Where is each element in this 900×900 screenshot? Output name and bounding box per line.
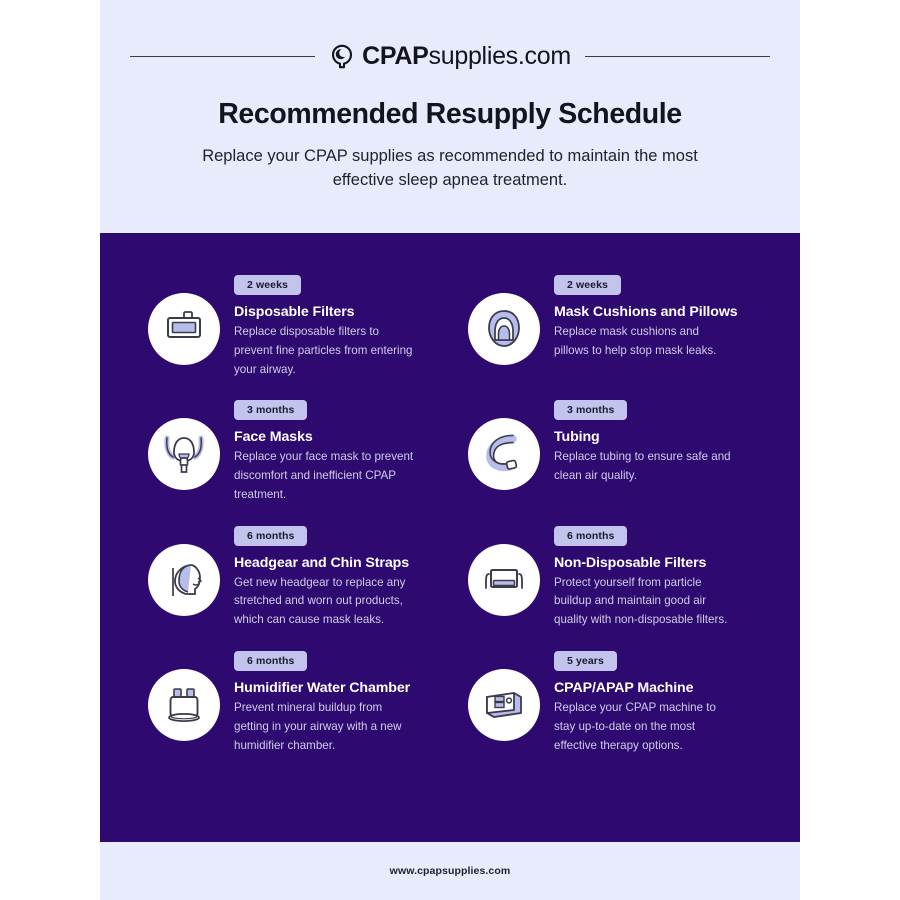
brand-name-regular: supplies.com xyxy=(429,42,571,70)
schedule-item-text: 3 months Tubing Replace tubing to ensure… xyxy=(554,398,778,486)
schedule-item-text: 5 years CPAP/APAP Machine Replace your C… xyxy=(554,649,778,755)
schedule-item[interactable]: 3 months Tubing Replace tubing to ensure… xyxy=(468,398,778,504)
schedule-item-text: 3 months Face Masks Replace your face ma… xyxy=(234,398,458,504)
schedule-item[interactable]: 6 months Humidifier Water Chamber Preven… xyxy=(148,649,458,755)
schedule-item[interactable]: 5 years CPAP/APAP Machine Replace your C… xyxy=(468,649,778,755)
cpap-machine-icon xyxy=(468,669,540,741)
status-badge: 3 months xyxy=(234,400,307,420)
schedule-item[interactable]: 3 months Face Masks Replace your face ma… xyxy=(148,398,458,504)
item-description: Replace tubing to ensure safe and clean … xyxy=(554,448,734,486)
item-description: Replace your face mask to prevent discom… xyxy=(234,448,414,504)
moon-in-droplet-icon xyxy=(329,44,355,70)
item-description: Replace your CPAP machine to stay up-to-… xyxy=(554,699,734,755)
tubing-icon xyxy=(468,418,540,490)
schedule-grid: 2 weeks Disposable Filters Replace dispo… xyxy=(148,273,778,755)
item-title: CPAP/APAP Machine xyxy=(554,680,778,696)
item-description: Protect yourself from particle buildup a… xyxy=(554,574,734,630)
header-section: CPAPsupplies.com Recommended Resupply Sc… xyxy=(100,0,800,233)
item-title: Tubing xyxy=(554,429,778,445)
footer-website-link[interactable]: www.cpapsupplies.com xyxy=(390,865,511,877)
status-badge: 6 months xyxy=(234,526,307,546)
headgear-icon xyxy=(148,544,220,616)
item-title: Face Masks xyxy=(234,429,458,445)
schedule-item[interactable]: 2 weeks Mask Cushions and Pillows Replac… xyxy=(468,273,778,379)
item-title: Non-Disposable Filters xyxy=(554,555,778,571)
brand-name-bold: CPAP xyxy=(362,42,428,70)
status-badge: 6 months xyxy=(554,526,627,546)
brand-row: CPAPsupplies.com xyxy=(130,42,770,71)
status-badge: 2 weeks xyxy=(554,275,621,295)
face-mask-icon xyxy=(148,418,220,490)
footer-section: www.cpapsupplies.com xyxy=(100,842,800,900)
schedule-item-text: 2 weeks Disposable Filters Replace dispo… xyxy=(234,273,458,379)
page-title: Recommended Resupply Schedule xyxy=(218,98,682,131)
schedule-item-text: 6 months Headgear and Chin Straps Get ne… xyxy=(234,524,458,630)
schedule-item[interactable]: 6 months Non-Disposable Filters Protect … xyxy=(468,524,778,630)
schedule-item[interactable]: 2 weeks Disposable Filters Replace dispo… xyxy=(148,273,458,379)
non-disposable-filter-icon xyxy=(468,544,540,616)
item-description: Replace disposable filters to prevent fi… xyxy=(234,323,414,379)
rule-left xyxy=(130,56,315,57)
item-description: Replace mask cushions and pillows to hel… xyxy=(554,323,734,361)
disposable-filter-icon xyxy=(148,293,220,365)
brand-logo-lockup[interactable]: CPAPsupplies.com xyxy=(329,42,571,71)
brand-name: CPAPsupplies.com xyxy=(362,42,571,71)
schedule-item-text: 6 months Humidifier Water Chamber Preven… xyxy=(234,649,458,755)
item-title: Disposable Filters xyxy=(234,304,458,320)
schedule-board: 2 weeks Disposable Filters Replace dispo… xyxy=(100,233,800,842)
infographic-page: CPAPsupplies.com Recommended Resupply Sc… xyxy=(100,0,800,900)
status-badge: 5 years xyxy=(554,651,617,671)
status-badge: 2 weeks xyxy=(234,275,301,295)
item-title: Humidifier Water Chamber xyxy=(234,680,458,696)
schedule-item-text: 2 weeks Mask Cushions and Pillows Replac… xyxy=(554,273,778,361)
page-subtitle: Replace your CPAP supplies as recommende… xyxy=(190,145,710,193)
item-title: Mask Cushions and Pillows xyxy=(554,304,778,320)
rule-right xyxy=(585,56,770,57)
status-badge: 3 months xyxy=(554,400,627,420)
item-description: Get new headgear to replace any stretche… xyxy=(234,574,414,630)
mask-cushion-icon xyxy=(468,293,540,365)
status-badge: 6 months xyxy=(234,651,307,671)
schedule-item-text: 6 months Non-Disposable Filters Protect … xyxy=(554,524,778,630)
item-description: Prevent mineral buildup from getting in … xyxy=(234,699,414,755)
schedule-item[interactable]: 6 months Headgear and Chin Straps Get ne… xyxy=(148,524,458,630)
humidifier-chamber-icon xyxy=(148,669,220,741)
item-title: Headgear and Chin Straps xyxy=(234,555,458,571)
